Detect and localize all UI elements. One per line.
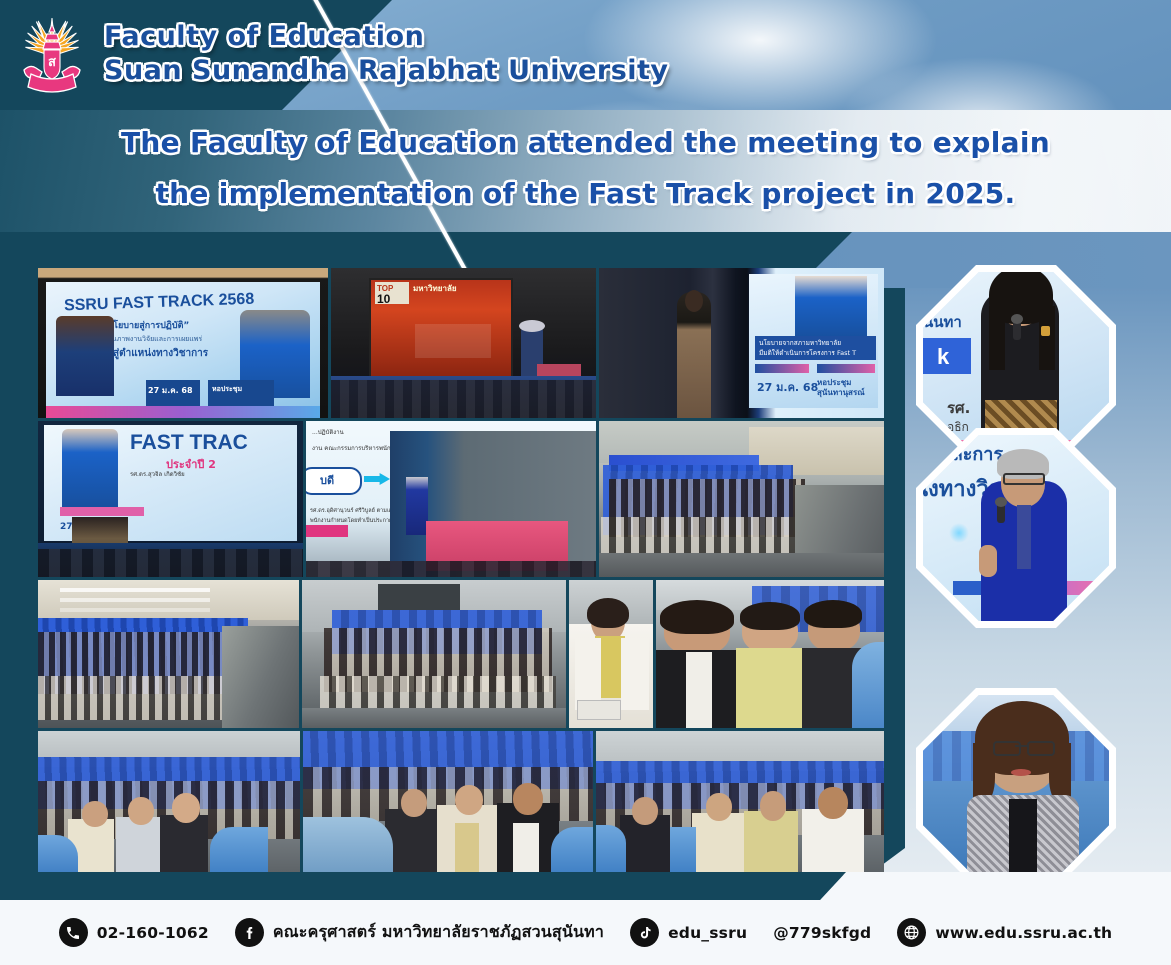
page-title-line-2: the implementation of the Fast Track pro… xyxy=(0,169,1171,220)
brand-text: Faculty of Education Suan Sunandha Rajab… xyxy=(104,21,669,87)
footer-item-handle[interactable]: @779skfgd xyxy=(773,924,871,942)
photo-speaker-woman-policy-slide: นโยบายจากสภามหาวิทยาลัย มีมติให้ดำเนินกา… xyxy=(599,268,884,418)
footer-handle-label: @779skfgd xyxy=(773,924,871,942)
photo-three-attendees-smiling xyxy=(656,580,884,728)
octagon-photo-female-attendee xyxy=(916,688,1116,888)
footer-item-facebook[interactable]: คณะครุศาสตร์ มหาวิทยาลัยราชภัฏสวนสุนันทา xyxy=(235,918,604,947)
collage-row xyxy=(38,731,884,875)
octagon-photo-male-speaker: จัยและการ น่งทางวิชา xyxy=(916,428,1116,628)
page-title-line-1: The Faculty of Education attended the me… xyxy=(0,118,1171,169)
ssru-crest-icon: ส xyxy=(14,10,90,102)
footer-item-tiktok[interactable]: edu_ssru xyxy=(630,918,747,947)
footer-facebook-label: คณะครุศาสตร์ มหาวิทยาลัยราชภัฏสวนสุนันทา xyxy=(273,920,604,945)
collage-row: FAST TRAC ประจำปี 2 27 ม.ค. 68 รศ.ดร.สุว… xyxy=(38,421,884,577)
photo-attendees-group-seated xyxy=(302,580,566,728)
footer-tiktok-label: edu_ssru xyxy=(668,924,747,942)
poster-root: ส Faculty of Education Suan Sunandha Raj… xyxy=(0,0,1171,965)
footer-item-website[interactable]: www.edu.ssru.ac.th xyxy=(897,918,1112,947)
photo-attendees-row-center xyxy=(303,731,593,875)
photo-auditorium-top10-slide: TOP 10 มหาวิทยาลัย xyxy=(331,268,596,418)
collage-row: SSRU FAST TRACK 2568 “มอบนโยบายสู่การปฏิ… xyxy=(38,268,884,418)
photo-fast-track-slide-speaker: FAST TRAC ประจำปี 2 27 ม.ค. 68 รศ.ดร.สุว… xyxy=(38,421,303,577)
photo-hall-wide-audience xyxy=(38,580,299,728)
photo-collage: SSRU FAST TRACK 2568 “มอบนโยบายสู่การปฏิ… xyxy=(38,268,884,872)
photo-org-chart-slide: ...ปฏิบัติงาน งาน คณะกรรมการบริหารพนักงา… xyxy=(306,421,596,577)
globe-icon xyxy=(897,918,926,947)
photo-seated-audience-rows xyxy=(599,421,884,577)
brand-block: ส Faculty of Education Suan Sunandha Raj… xyxy=(14,10,669,102)
page-title: The Faculty of Education attended the me… xyxy=(0,118,1171,220)
phone-icon xyxy=(59,918,88,947)
footer-item-phone[interactable]: 02-160-1062 xyxy=(59,918,209,947)
photo-attendee-portrait-white xyxy=(569,580,653,728)
footer-website-label: www.edu.ssru.ac.th xyxy=(935,924,1112,942)
photo-stage-screen-fasttrack2568: SSRU FAST TRACK 2568 “มอบนโยบายสู่การปฏิ… xyxy=(38,268,328,418)
photo-attendees-row-left xyxy=(38,731,300,875)
brand-line-faculty: Faculty of Education xyxy=(104,21,669,53)
tiktok-icon xyxy=(630,918,659,947)
photo-attendees-row-right xyxy=(596,731,884,875)
facebook-icon xyxy=(235,918,264,947)
footer-contact-bar: 02-160-1062 คณะครุศาสตร์ มหาวิทยาลัยราชภ… xyxy=(0,900,1171,965)
collage-row xyxy=(38,580,884,728)
brand-line-university: Suan Sunandha Rajabhat University xyxy=(104,55,669,87)
footer-phone-label: 02-160-1062 xyxy=(97,924,209,942)
svg-text:ส: ส xyxy=(48,55,56,70)
